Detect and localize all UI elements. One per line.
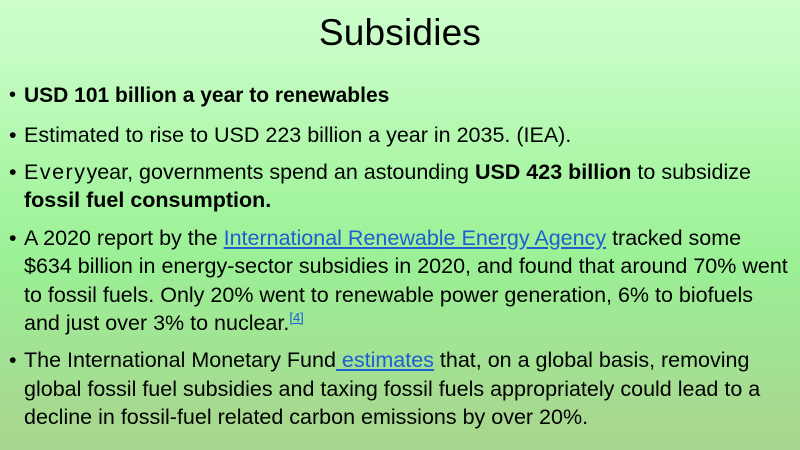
presentation-slide: Subsidies • USD 101 billion a year to re… [0, 0, 800, 450]
bullet-item-iea-projection: • Estimated to rise to USD 223 billion a… [0, 121, 800, 149]
bullet-marker-icon: • [9, 158, 17, 186]
bullet-item-imf-estimate: • The International Monetary Fund estima… [0, 346, 800, 431]
bullet-text-fossil-fuel-spend-b: to subsidize [631, 160, 751, 184]
bullet-text-iea-projection: Estimated to rise to USD 223 billion a y… [24, 123, 571, 147]
bullet-item-renewables-subsidy: • USD 101 billion a year to renewables [0, 82, 800, 110]
bullet-list: • USD 101 billion a year to renewables •… [0, 82, 800, 440]
bullet-marker-icon: • [9, 82, 16, 108]
link-international-renewable-energy-agency[interactable]: International Renewable Energy Agency [224, 226, 606, 250]
bullet-text-imf-before-link: The International Monetary Fund [24, 348, 336, 372]
bullet-emphasis-usd-423-billion: USD 423 billion [475, 160, 632, 184]
bullet-item-fossil-fuel-spend: • Everyyear, governments spend an astoun… [0, 158, 800, 215]
bullet-item-irena-2020-report: • A 2020 report by the International Ren… [0, 224, 800, 338]
bullet-marker-icon: • [9, 224, 17, 252]
bullet-text-irena-before-link: A 2020 report by the [24, 226, 224, 250]
bullet-text-fossil-fuel-spend-a: year, governments spend an astounding [86, 160, 474, 184]
page-title: Subsidies [0, 12, 800, 55]
bullet-marker-icon: • [9, 121, 17, 149]
link-imf-estimates[interactable]: estimates [336, 348, 434, 372]
bullet-text-lead: Every [24, 160, 86, 184]
bullet-emphasis-fossil-fuel-consumption: fossil fuel consumption. [24, 188, 271, 212]
bullet-marker-icon: • [9, 346, 17, 374]
bullet-text-renewables-subsidy: USD 101 billion a year to renewables [24, 84, 389, 107]
citation-reference-4[interactable]: [4] [289, 310, 303, 325]
